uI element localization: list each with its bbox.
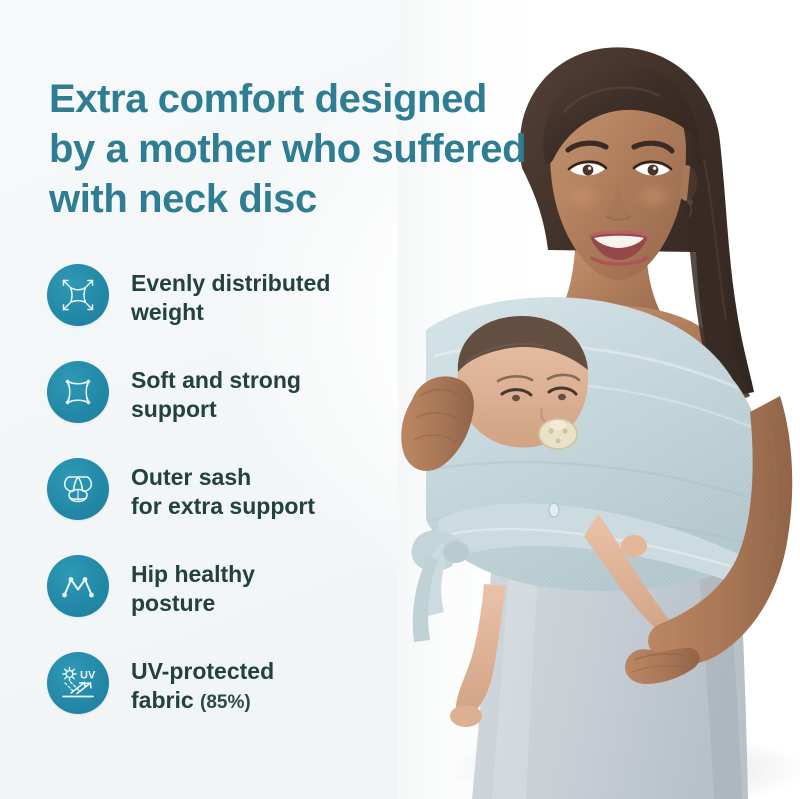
feature-label-line-1: Soft and strong: [131, 366, 301, 395]
uv-protection-icon: UV: [47, 652, 109, 714]
feature-list: Evenly distributed weight: [47, 262, 407, 747]
headline-line-3: with neck disc: [49, 174, 609, 224]
feature-label: Hip healthy posture: [131, 553, 255, 618]
feature-label-line-1: Evenly distributed: [131, 269, 330, 298]
feature-item-evenly-distributed-weight: Evenly distributed weight: [47, 262, 407, 359]
feature-label-line-2: fabric (85%): [131, 686, 274, 717]
feature-label: Evenly distributed weight: [131, 262, 330, 327]
uv-label: UV: [80, 670, 96, 682]
feature-label-line-1: Outer sash: [131, 463, 315, 492]
feature-label-line-2-main: fabric: [131, 687, 194, 713]
headline-line-2: by a mother who suffered: [49, 124, 609, 174]
headline-line-1: Extra comfort designed: [49, 74, 609, 124]
feature-item-uv-protected-fabric: UV: [47, 650, 407, 747]
feature-label-note: (85%): [200, 692, 251, 713]
feature-label-line-1: UV-protected: [131, 657, 274, 686]
evenly-distributed-weight-icon: [47, 264, 109, 326]
feature-label-line-2: for extra support: [131, 492, 315, 521]
feature-label-line-2: weight: [131, 298, 330, 327]
feature-item-soft-strong-support: Soft and strong support: [47, 359, 407, 456]
feature-item-outer-sash: Outer sash for extra support: [47, 456, 407, 553]
outer-sash-icon: [47, 458, 109, 520]
soft-strong-support-icon: [47, 361, 109, 423]
feature-label-line-2: support: [131, 395, 301, 424]
feature-label: Soft and strong support: [131, 359, 301, 424]
product-infographic: Extra comfort designed by a mother who s…: [0, 0, 800, 799]
feature-item-hip-healthy-posture: Hip healthy posture: [47, 553, 407, 650]
feature-label-line-2: posture: [131, 589, 255, 618]
feature-label-line-1: Hip healthy: [131, 560, 255, 589]
page-title: Extra comfort designed by a mother who s…: [49, 74, 609, 224]
feature-label: UV-protected fabric (85%): [131, 650, 274, 717]
hip-healthy-posture-icon: [47, 555, 109, 617]
feature-label: Outer sash for extra support: [131, 456, 315, 521]
